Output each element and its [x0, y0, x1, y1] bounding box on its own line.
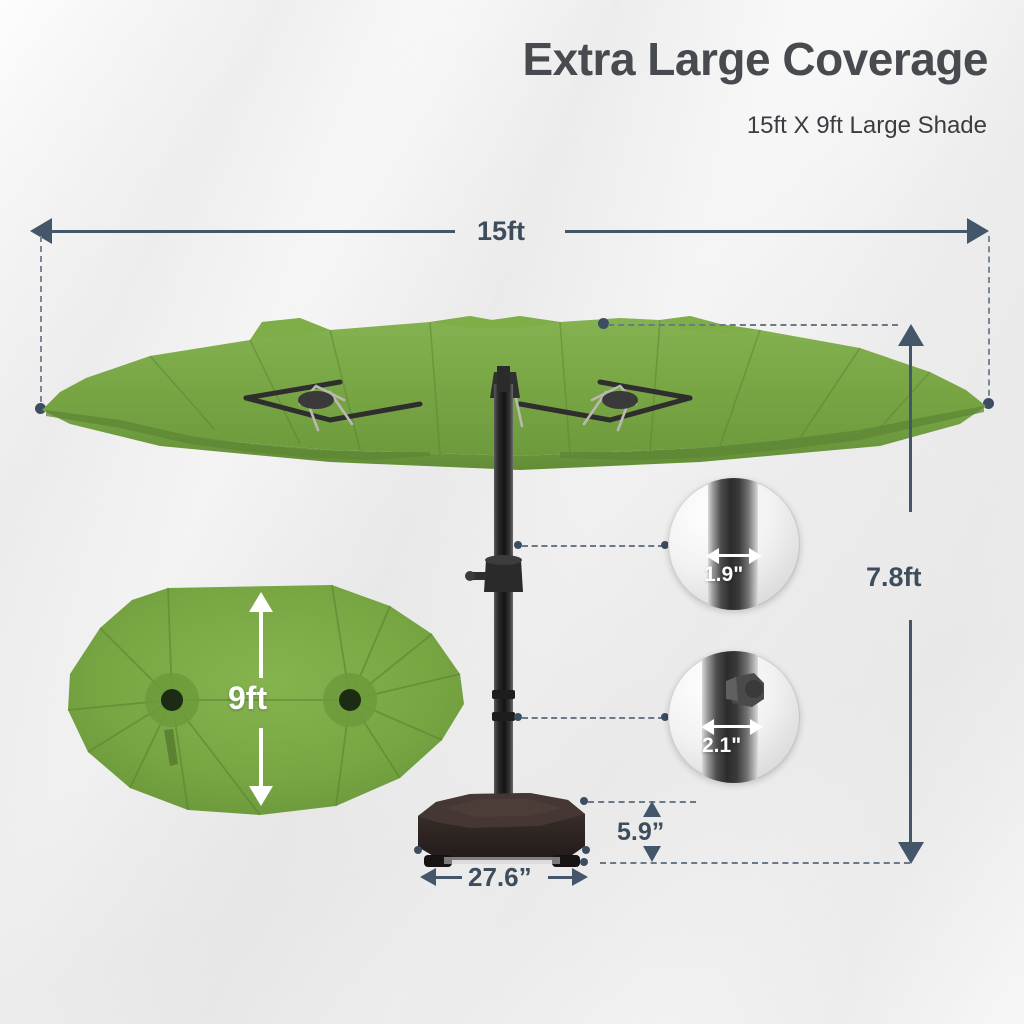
width-line-right	[565, 230, 969, 233]
callout2-measure-line	[707, 725, 755, 728]
base-bottom-dot	[580, 858, 588, 866]
depth-arrow-up-icon	[249, 592, 273, 612]
callout2-anchor-dot	[514, 713, 522, 721]
base-height-arrow-up-icon	[643, 801, 661, 817]
product-infographic: Extra Large Coverage 15ft X 9ft Large Sh…	[0, 0, 1024, 1024]
height-line-upper	[909, 344, 912, 512]
depth-line-upper	[259, 610, 263, 678]
width-label: 15ft	[477, 216, 525, 247]
base-top-guide	[588, 801, 696, 803]
height-top-guide	[608, 324, 898, 326]
callout1-measure-line	[712, 554, 754, 557]
ground-guide-line	[600, 862, 910, 864]
height-arrow-down-icon	[898, 842, 924, 864]
width-guide-right	[988, 236, 990, 406]
depth-line-lower	[259, 728, 263, 786]
upper-pole-callout: 1.9"	[668, 478, 800, 610]
width-guide-dot-left	[35, 403, 46, 414]
width-line-left	[50, 230, 455, 233]
base-width-label: 27.6”	[468, 862, 532, 893]
depth-label: 9ft	[228, 680, 267, 717]
callout1-anchor-dot	[514, 541, 522, 549]
base-top-dot	[580, 797, 588, 805]
lower-pole-callout: 2.1"	[668, 651, 800, 783]
base-height-label: 5.9”	[617, 818, 664, 847]
height-label: 7.8ft	[866, 562, 922, 593]
width-arrow-right-icon	[967, 218, 989, 244]
callout1-label: 1.9"	[704, 563, 743, 587]
base-right-dot	[582, 846, 590, 854]
base-left-dot	[414, 846, 422, 854]
callout2-crank-icon	[668, 651, 800, 783]
base-height-arrow-down-icon	[643, 846, 661, 862]
callout2-label: 2.1"	[702, 734, 741, 758]
callout1-arrow-right-icon	[749, 548, 762, 564]
base-width-arrow-right-icon	[572, 868, 588, 886]
depth-arrow-down-icon	[249, 786, 273, 806]
height-line-lower	[909, 620, 912, 842]
canopy-top-view-illustration	[60, 570, 480, 850]
callout1-pole-graphic	[708, 478, 758, 610]
callout2-leader-line	[522, 717, 664, 719]
page-title: Extra Large Coverage	[522, 32, 988, 86]
page-subtitle: 15ft X 9ft Large Shade	[747, 112, 987, 140]
height-arrow-up-icon	[898, 324, 924, 346]
base-width-line-left	[434, 876, 462, 879]
callout2-arrow-right-icon	[750, 719, 763, 735]
width-guide-dot-right	[983, 398, 994, 409]
width-guide-left	[40, 236, 42, 412]
callout1-leader-line	[522, 545, 664, 547]
